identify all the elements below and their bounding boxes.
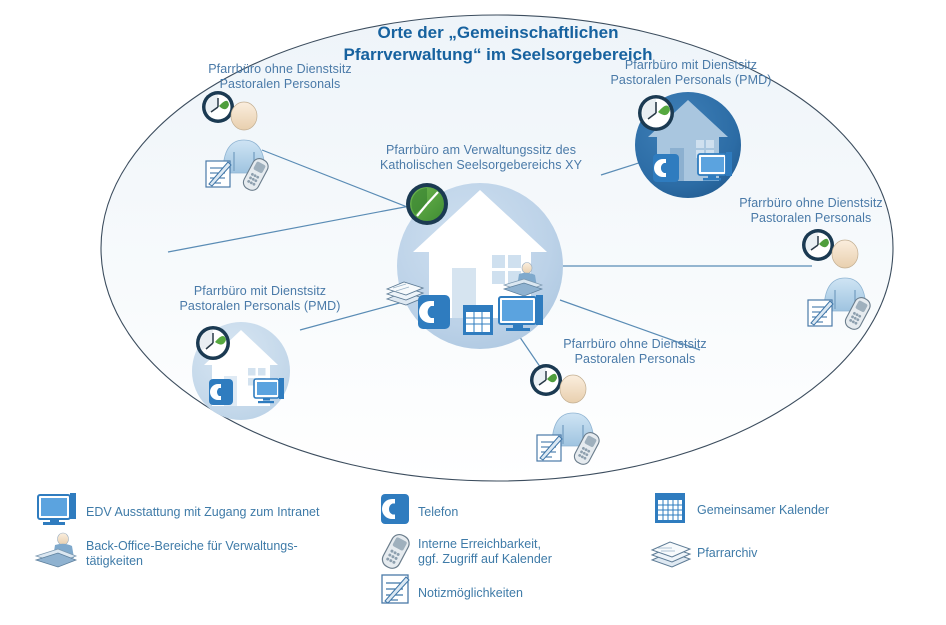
legend-item-erreichbarkeit: Interne Erreichbarkeit, ggf. Zugriff auf…	[418, 532, 608, 567]
legend-item-archiv: Pfarrarchiv	[697, 541, 897, 561]
legend-label-edv: EDV Ausstattung mit Zugang zum Intranet	[86, 500, 319, 520]
legend-icon-calendar	[655, 493, 685, 523]
monitor-icon	[698, 152, 732, 181]
legend-label-erreichbarkeit: Interne Erreichbarkeit, ggf. Zugriff auf…	[418, 532, 552, 567]
legend-icon-note	[382, 575, 409, 603]
calendar-icon	[463, 305, 493, 335]
legend-icon-monitor	[38, 493, 76, 525]
archive-icon	[387, 282, 423, 305]
node-office-no-seat-top-left[interactable]	[202, 91, 271, 193]
backoffice-icon	[504, 263, 542, 297]
node-office-pmd-left[interactable]	[192, 322, 290, 420]
clock-icon	[530, 364, 562, 396]
monitor-icon	[499, 295, 543, 331]
label-office-no-seat-top-left: Pfarrbüro ohne Dienstsitz Pastoralen Per…	[180, 62, 380, 92]
node-office-pmd-top-right[interactable]	[635, 92, 741, 198]
legend-item-backoffice: Back-Office-Bereiche für Verwaltungs- tä…	[86, 534, 326, 569]
legend-item-kalender: Gemeinsamer Kalender	[697, 498, 897, 518]
node-office-no-seat-right[interactable]	[802, 229, 873, 332]
person-icon	[223, 102, 265, 173]
diagram-canvas: Orte der „Gemeinschaftlichen Pfarrverwal…	[0, 0, 946, 625]
phone-icon	[418, 295, 450, 329]
node-office-no-seat-bottom[interactable]	[530, 364, 602, 467]
label-office-pmd-left: Pfarrbüro mit Dienstsitz Pastoralen Pers…	[160, 284, 360, 314]
note-icon	[808, 300, 833, 326]
legend-label-backoffice: Back-Office-Bereiche für Verwaltungs- tä…	[86, 534, 298, 569]
mobile-icon	[241, 156, 271, 193]
note-icon	[206, 161, 231, 187]
monitor-icon	[254, 378, 284, 403]
legend-label-kalender: Gemeinsamer Kalender	[697, 498, 829, 518]
house-icon	[648, 100, 728, 181]
person-icon	[552, 375, 594, 446]
label-office-admin-center: Pfarrbüro am Verwaltungssitz des Katholi…	[364, 143, 598, 173]
house-icon	[413, 190, 547, 318]
legend-item-edv: EDV Ausstattung mit Zugang zum Intranet	[86, 500, 346, 520]
legend-item-telefon: Telefon	[418, 500, 598, 520]
clock-icon	[802, 229, 834, 261]
note-icon	[537, 435, 562, 461]
legend-label-archiv: Pfarrarchiv	[697, 541, 757, 561]
person-icon	[824, 240, 866, 311]
clock-icon	[406, 183, 448, 225]
legend-icon-archive	[652, 542, 690, 567]
label-office-no-seat-bottom: Pfarrbüro ohne Dienstsitz Pastoralen Per…	[540, 337, 730, 367]
house-icon	[204, 330, 278, 406]
phone-icon	[209, 379, 233, 405]
label-office-pmd-top-right: Pfarrbüro mit Dienstsitz Pastoralen Pers…	[588, 58, 794, 88]
legend-icon-mobile	[380, 532, 412, 571]
legend-label-notiz: Notizmöglichkeiten	[418, 581, 523, 601]
node-office-admin-center[interactable]	[387, 183, 563, 349]
mobile-icon	[572, 430, 602, 467]
legend-icon-phone	[381, 494, 409, 524]
clock-icon	[638, 95, 674, 131]
clock-icon	[196, 326, 230, 360]
mobile-icon	[843, 295, 873, 332]
phone-icon	[653, 154, 679, 182]
label-office-no-seat-right: Pfarrbüro ohne Dienstsitz Pastoralen Per…	[720, 196, 902, 226]
clock-icon	[202, 91, 234, 123]
legend-label-telefon: Telefon	[418, 500, 458, 520]
legend-item-notiz: Notizmöglichkeiten	[418, 581, 598, 601]
legend-icon-backoffice	[36, 533, 76, 567]
